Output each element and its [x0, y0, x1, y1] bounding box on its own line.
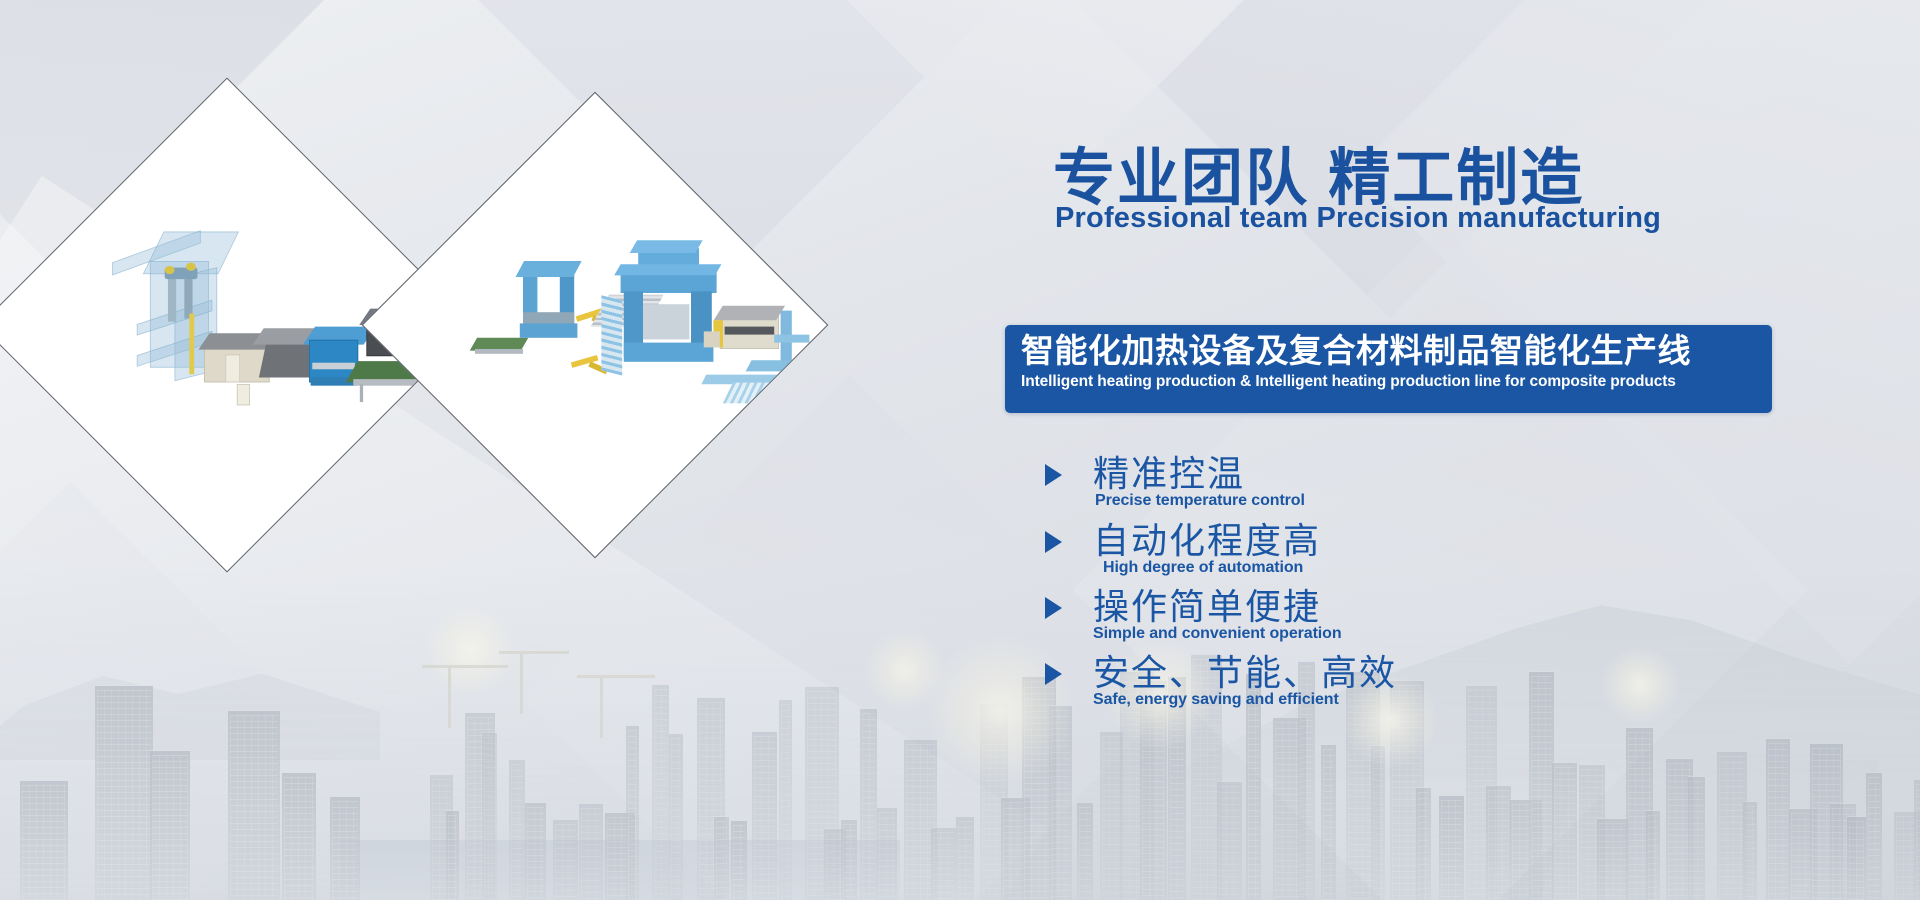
building [931, 827, 956, 900]
building [525, 802, 546, 900]
building [330, 796, 360, 900]
building [446, 810, 459, 900]
feature-item: 精准控温 Precise temperature control [1045, 453, 1305, 510]
feature-label-english: Simple and convenient operation [1093, 625, 1342, 643]
building [482, 732, 497, 900]
building [95, 685, 153, 900]
crane [499, 651, 569, 654]
feature-label-english: Precise temperature control [1095, 492, 1305, 510]
feature-item: 操作简单便捷 Simple and convenient operation [1045, 586, 1342, 643]
triangle-right-icon [1045, 597, 1062, 619]
feature-item: 安全、节能、高效 Safe, energy saving and efficie… [1045, 652, 1397, 709]
building [553, 819, 578, 900]
building [228, 710, 280, 900]
feature-label-chinese: 自动化程度高 [1093, 520, 1321, 561]
banner-stage: 专业团队 精工制造 Professional team Precision ma… [0, 0, 1920, 900]
building [752, 731, 777, 900]
building [877, 807, 897, 900]
feature-label-english: Safe, energy saving and efficient [1093, 691, 1397, 709]
feature-label-chinese: 精准控温 [1093, 453, 1305, 494]
triangle-right-icon [1045, 464, 1062, 486]
building [714, 816, 729, 900]
production-line-render-2 [362, 92, 829, 559]
building [860, 708, 877, 900]
building [956, 816, 974, 900]
highlight-bar-chinese: 智能化加热设备及复合材料制品智能化生产线 [1021, 330, 1758, 372]
building [579, 803, 603, 900]
feature-label-english: High degree of automation [1103, 559, 1321, 577]
building [841, 819, 857, 900]
feature-label-chinese: 安全、节能、高效 [1093, 652, 1397, 693]
feature-label-chinese: 操作简单便捷 [1093, 586, 1342, 627]
building [509, 759, 525, 900]
building [150, 750, 190, 900]
crane [600, 678, 603, 738]
building [779, 699, 792, 900]
building [731, 820, 747, 900]
crane [577, 675, 655, 678]
crane [422, 665, 508, 668]
triangle-right-icon [1045, 531, 1062, 553]
building [652, 684, 669, 900]
building [669, 733, 683, 900]
triangle-right-icon [1045, 663, 1062, 685]
highlight-bar: 智能化加热设备及复合材料制品智能化生产线 Intelligent heating… [1005, 325, 1772, 413]
highlight-bar-english: Intelligent heating production & Intelli… [1021, 373, 1758, 391]
building [20, 780, 68, 900]
headline-english: Professional team Precision manufacturin… [1055, 202, 1661, 235]
banner-copy-column: 专业团队 精工制造 Professional team Precision ma… [1005, 0, 1920, 900]
building [626, 725, 639, 900]
crane [520, 654, 523, 714]
building [282, 772, 316, 900]
feature-item: 自动化程度高 High degree of automation [1045, 520, 1321, 577]
crane [448, 668, 451, 728]
